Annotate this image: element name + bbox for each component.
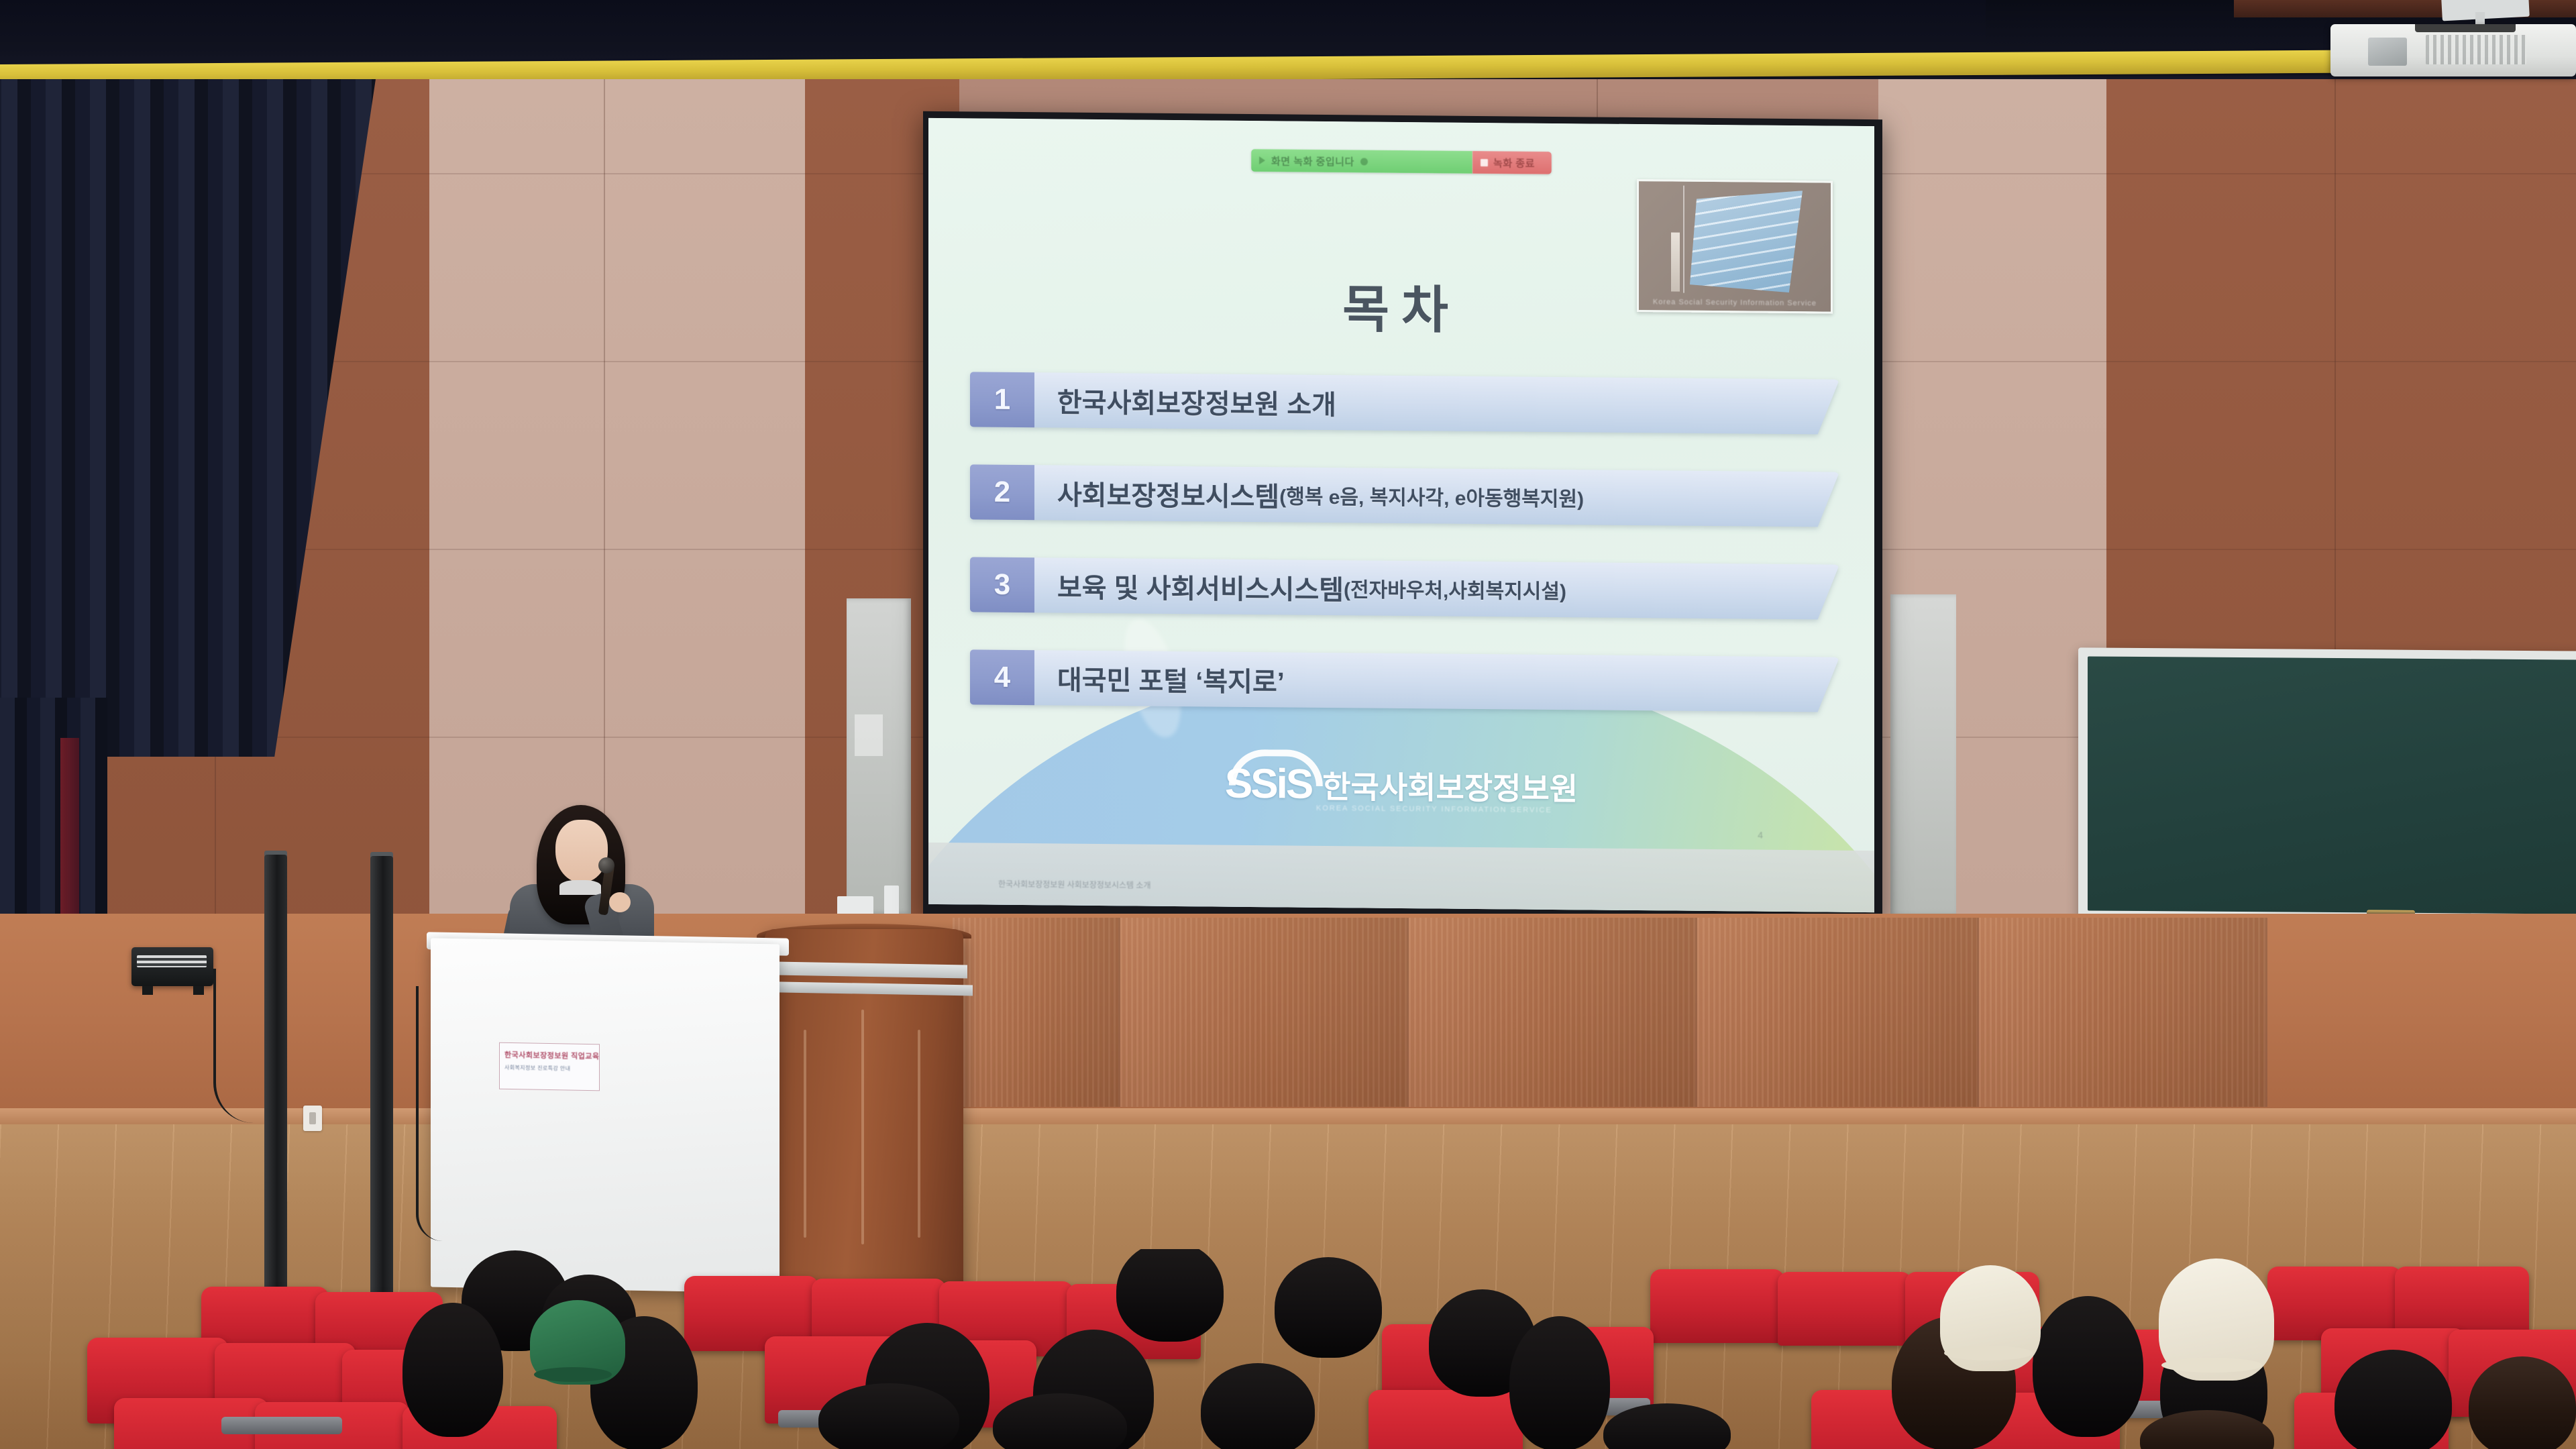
white-lectern — [431, 938, 780, 1293]
screen-surface: 화면 녹화 중입니다 녹화 종료 Korea Social Security I… — [928, 118, 1874, 912]
audience-area — [0, 1249, 2576, 1449]
agenda-item-text: 한국사회보장정보원 소개 — [1057, 381, 1336, 423]
projector-vent — [2426, 35, 2526, 64]
ssis-logomark: SSiS — [1225, 760, 1311, 808]
stop-recording-label: 녹화 종료 — [1493, 156, 1535, 170]
auditorium-scene: 화면 녹화 중입니다 녹화 종료 Korea Social Security I… — [0, 0, 2576, 1449]
green-chalkboard — [2078, 647, 2576, 932]
right-alcove-panel — [1890, 594, 1956, 915]
speaker-stand-left — [264, 855, 287, 1318]
ssis-korean-name: 한국사회보장정보원 — [1322, 762, 1578, 808]
presenter-face — [555, 820, 608, 883]
heater-foot-left — [142, 986, 153, 995]
agenda-item-subtext: (전자바우처,사회복지시설) — [1344, 573, 1566, 604]
seat — [1650, 1269, 1784, 1343]
audience-head — [1116, 1249, 1224, 1342]
audience-head — [1275, 1257, 1382, 1358]
audience-head — [1201, 1363, 1315, 1449]
slide-corner-mark: 4 — [1758, 830, 1763, 841]
agenda-item-label: 대국민 포털 ‘복지로’ — [1034, 650, 1839, 712]
agenda-item-text: 보육 및 사회서비스시스템 — [1057, 566, 1344, 608]
agenda-item-text: 대국민 포털 ‘복지로’ — [1057, 659, 1285, 700]
seat — [1778, 1272, 1912, 1346]
agenda-item-number: 2 — [970, 464, 1034, 520]
slide-title: 목차 — [928, 264, 1874, 346]
heater-grille — [137, 955, 207, 967]
screen-recording-toolbar[interactable]: 화면 녹화 중입니다 녹화 종료 — [1251, 149, 1552, 174]
agenda-item-number: 1 — [970, 372, 1034, 427]
agenda-list: 1 한국사회보장정보원 소개 2 사회보장정보시스템 (행복 e음, 복지사각,… — [970, 372, 1839, 712]
heater-foot-right — [193, 986, 204, 995]
audience-head — [1509, 1316, 1610, 1449]
white-cap-brim — [1944, 1346, 2033, 1360]
left-alcove-panel — [847, 598, 911, 914]
projector-top-slot — [2415, 24, 2516, 32]
projection-screen: 화면 녹화 중입니다 녹화 종료 Korea Social Security I… — [923, 111, 1882, 924]
stop-icon — [1481, 159, 1488, 166]
microphone-head-icon — [598, 857, 614, 873]
wall-outlet-left — [303, 1106, 322, 1131]
slide: 화면 녹화 중입니다 녹화 종료 Korea Social Security I… — [928, 118, 1874, 912]
agenda-item-subtext: (행복 e음, 복지사각, e아동행복지원) — [1279, 480, 1584, 512]
audience-head — [2469, 1356, 2576, 1449]
recording-status-label: 화면 녹화 중입니다 — [1271, 154, 1354, 168]
agenda-item: 4 대국민 포털 ‘복지로’ — [970, 649, 1839, 712]
agenda-item: 3 보육 및 사회서비스시스템 (전자바우처,사회복지시설) — [970, 557, 1839, 619]
stop-recording-chip[interactable]: 녹화 종료 — [1472, 151, 1552, 174]
recording-status-chip[interactable]: 화면 녹화 중입니다 — [1251, 149, 1472, 174]
seat-cushion — [221, 1417, 342, 1434]
agenda-item: 1 한국사회보장정보원 소개 — [970, 372, 1839, 434]
presenter-collar — [559, 880, 601, 895]
projector-lens — [2368, 38, 2407, 66]
slide-footnote: 한국사회보장정보원 사회보장정보시스템 소개 — [998, 878, 1150, 892]
presenter-right-hand — [609, 892, 631, 912]
alcove-marking — [855, 714, 883, 756]
cream-cap-brim — [2161, 1358, 2262, 1373]
seat — [1368, 1390, 1523, 1449]
audience-head — [2033, 1296, 2143, 1437]
play-icon — [1259, 156, 1265, 164]
agenda-item: 2 사회보장정보시스템 (행복 e음, 복지사각, e아동행복지원) — [970, 464, 1839, 527]
power-cable — [213, 969, 254, 1123]
agenda-item-label: 사회보장정보시스템 (행복 e음, 복지사각, e아동행복지원) — [1034, 465, 1839, 527]
record-dot-icon — [1360, 158, 1368, 165]
bottle-object — [884, 885, 899, 918]
agenda-item-label: 한국사회보장정보원 소개 — [1034, 372, 1839, 434]
agenda-item-number: 4 — [970, 649, 1034, 705]
lectern-sign-title: 한국사회보장정보원 직업교육 — [504, 1049, 594, 1061]
agenda-item-label: 보육 및 사회서비스시스템 (전자바우처,사회복지시설) — [1034, 557, 1839, 619]
slide-bottom-bar — [928, 843, 1874, 912]
agenda-item-text: 사회보장정보시스템 — [1057, 474, 1279, 515]
lectern-sign-subtitle: 사회복지정보 진로특강 안내 — [504, 1064, 594, 1073]
audience-head — [2334, 1350, 2452, 1449]
green-cap-brim — [534, 1367, 612, 1382]
chalkboard-surface — [2088, 656, 2576, 914]
ssis-logo: SSiS 한국사회보장정보원 KOREA SOCIAL SECURITY INF… — [1225, 760, 1578, 811]
lectern-sign: 한국사회보장정보원 직업교육 사회복지정보 진로특강 안내 — [499, 1042, 600, 1091]
audience-head — [402, 1303, 503, 1437]
lectern-cable — [416, 986, 443, 1241]
agenda-item-number: 3 — [970, 557, 1034, 612]
